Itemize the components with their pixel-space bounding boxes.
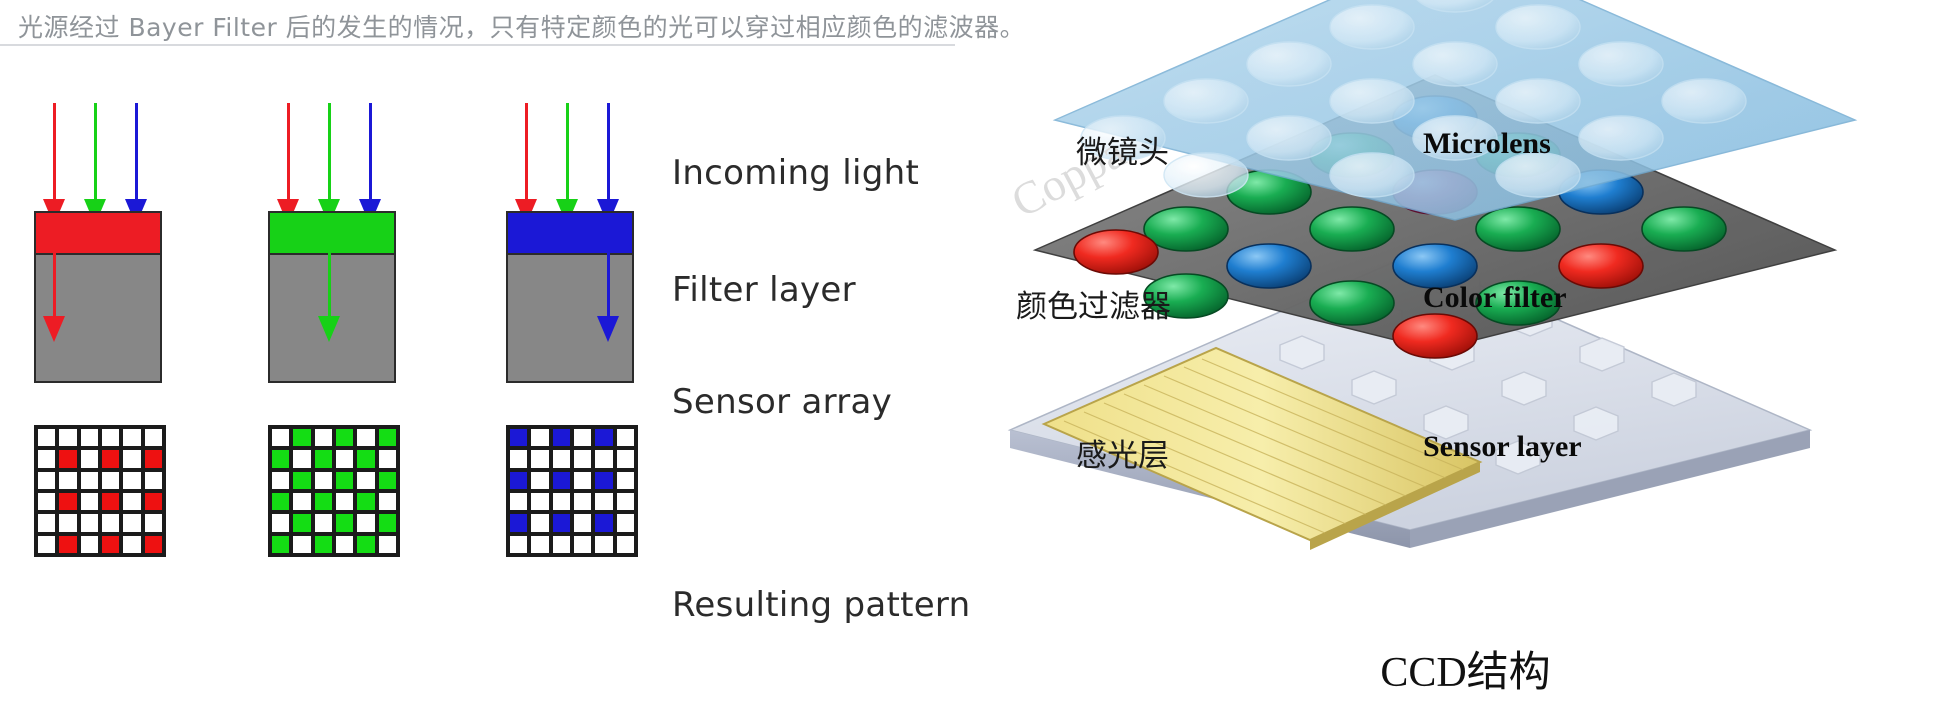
pattern-cell [313, 427, 334, 448]
pattern-cell [551, 427, 572, 448]
pattern-cell [551, 448, 572, 469]
pattern-cell [593, 512, 614, 533]
pattern-cell [334, 534, 355, 555]
pattern-cell [529, 470, 550, 491]
pattern-cell [270, 448, 291, 469]
pattern-cell [593, 448, 614, 469]
microlens-plate [1055, 0, 1855, 220]
pattern-cell [57, 427, 78, 448]
pattern-cell [615, 534, 636, 555]
incoming-ray-green [565, 103, 569, 225]
pattern-cell [100, 470, 121, 491]
pattern-cell [36, 512, 57, 533]
transmitted-ray-blue [606, 228, 610, 348]
pattern-cell [100, 512, 121, 533]
pattern-cell [551, 534, 572, 555]
pattern-cell [615, 512, 636, 533]
resulting-pattern-blue [506, 425, 638, 557]
label-incoming-light: Incoming light [672, 153, 919, 193]
pattern-cell [334, 470, 355, 491]
pattern-cell [508, 534, 529, 555]
pattern-cell [313, 512, 334, 533]
pattern-cell [334, 448, 355, 469]
pattern-cell [355, 534, 376, 555]
pattern-cell [593, 470, 614, 491]
pattern-cell [143, 491, 164, 512]
pattern-cell [100, 427, 121, 448]
pattern-cell [334, 491, 355, 512]
pattern-cell [270, 491, 291, 512]
pattern-cell [334, 512, 355, 533]
label-en-color-filter: Color filter [1423, 281, 1567, 315]
pattern-cell [377, 427, 398, 448]
pattern-cell [313, 470, 334, 491]
pattern-cell [291, 512, 312, 533]
pattern-cell [355, 427, 376, 448]
pattern-cell [291, 470, 312, 491]
pattern-cell [121, 491, 142, 512]
pattern-cell [143, 534, 164, 555]
pattern-cell [36, 427, 57, 448]
incoming-ray-blue [134, 103, 138, 225]
pattern-cell [57, 491, 78, 512]
pattern-cell [57, 534, 78, 555]
pattern-cell [355, 470, 376, 491]
pattern-cell [355, 491, 376, 512]
pattern-cell [270, 427, 291, 448]
pattern-cell [121, 427, 142, 448]
label-cn-microlens: 微镜头 [1076, 127, 1169, 172]
pattern-cell [377, 534, 398, 555]
pattern-cell [508, 512, 529, 533]
incoming-ray-blue [606, 103, 610, 225]
pattern-cell [100, 491, 121, 512]
pattern-cell [508, 491, 529, 512]
pattern-cell [36, 448, 57, 469]
pattern-cell [57, 512, 78, 533]
pattern-cell [100, 534, 121, 555]
pattern-cell [291, 448, 312, 469]
pattern-cell [508, 470, 529, 491]
pattern-cell [377, 448, 398, 469]
pattern-cell [313, 448, 334, 469]
pattern-cell [615, 470, 636, 491]
pattern-cell [593, 534, 614, 555]
transmitted-ray-red [52, 228, 56, 348]
pattern-cell [529, 534, 550, 555]
label-sensor-array: Sensor array [672, 382, 892, 422]
pattern-cell [57, 470, 78, 491]
pattern-cell [291, 427, 312, 448]
pattern-cell [615, 491, 636, 512]
pattern-cell [529, 448, 550, 469]
pattern-cell [79, 470, 100, 491]
pattern-cell [593, 427, 614, 448]
incoming-ray-green [327, 103, 331, 225]
pattern-cell [270, 534, 291, 555]
pattern-cell [355, 512, 376, 533]
pattern-cell [572, 534, 593, 555]
pattern-cell [100, 448, 121, 469]
pattern-cell [291, 491, 312, 512]
pattern-cell [572, 491, 593, 512]
label-resulting-pattern: Resulting pattern [672, 585, 970, 625]
pattern-cell [143, 470, 164, 491]
pattern-cell [529, 491, 550, 512]
pattern-cell [143, 427, 164, 448]
pattern-cell [572, 427, 593, 448]
label-filter-layer: Filter layer [672, 270, 856, 310]
pattern-cell [143, 512, 164, 533]
pattern-cell [615, 427, 636, 448]
pattern-cell [529, 427, 550, 448]
green-filter [268, 211, 396, 255]
incoming-ray-red [524, 103, 528, 225]
bayer-filter-diagram: Incoming light Filter layer Sensor array… [0, 0, 980, 716]
transmitted-ray-green [327, 228, 331, 348]
resulting-pattern-red [34, 425, 166, 557]
pattern-cell [57, 448, 78, 469]
pattern-cell [593, 491, 614, 512]
pattern-cell [313, 491, 334, 512]
ccd-structure-diagram: Coppa 微镜头 颜色过滤器 感光层 Microlens Color filt… [980, 0, 1951, 716]
pattern-cell [121, 512, 142, 533]
pattern-cell [572, 470, 593, 491]
pattern-cell [313, 534, 334, 555]
pattern-cell [377, 491, 398, 512]
label-cn-sensor-layer: 感光层 [1076, 430, 1169, 475]
pattern-cell [79, 491, 100, 512]
pattern-cell [36, 491, 57, 512]
pattern-cell [508, 427, 529, 448]
label-en-sensor-layer: Sensor layer [1423, 430, 1582, 464]
pattern-cell [79, 534, 100, 555]
label-en-microlens: Microlens [1423, 127, 1551, 161]
pattern-cell [551, 512, 572, 533]
pattern-cell [551, 470, 572, 491]
pattern-cell [79, 448, 100, 469]
pattern-cell [121, 470, 142, 491]
pattern-cell [270, 512, 291, 533]
pattern-cell [121, 534, 142, 555]
incoming-ray-red [52, 103, 56, 225]
pattern-cell [377, 470, 398, 491]
incoming-ray-red [286, 103, 290, 225]
pattern-cell [529, 512, 550, 533]
pattern-cell [121, 448, 142, 469]
blue-filter [506, 211, 634, 255]
pattern-cell [291, 534, 312, 555]
incoming-ray-blue [368, 103, 372, 225]
pattern-cell [508, 448, 529, 469]
pattern-cell [377, 512, 398, 533]
pattern-cell [572, 512, 593, 533]
pattern-cell [36, 470, 57, 491]
pattern-cell [551, 491, 572, 512]
pattern-cell [334, 427, 355, 448]
pattern-cell [79, 512, 100, 533]
ccd-diagram-title: CCD结构 [980, 638, 1951, 699]
pattern-cell [572, 448, 593, 469]
incoming-ray-green [93, 103, 97, 225]
pattern-cell [615, 448, 636, 469]
label-cn-color-filter: 颜色过滤器 [1016, 281, 1171, 326]
pattern-cell [36, 534, 57, 555]
pattern-cell [355, 448, 376, 469]
pattern-cell [79, 427, 100, 448]
pattern-cell [143, 448, 164, 469]
resulting-pattern-green [268, 425, 400, 557]
pattern-cell [270, 470, 291, 491]
